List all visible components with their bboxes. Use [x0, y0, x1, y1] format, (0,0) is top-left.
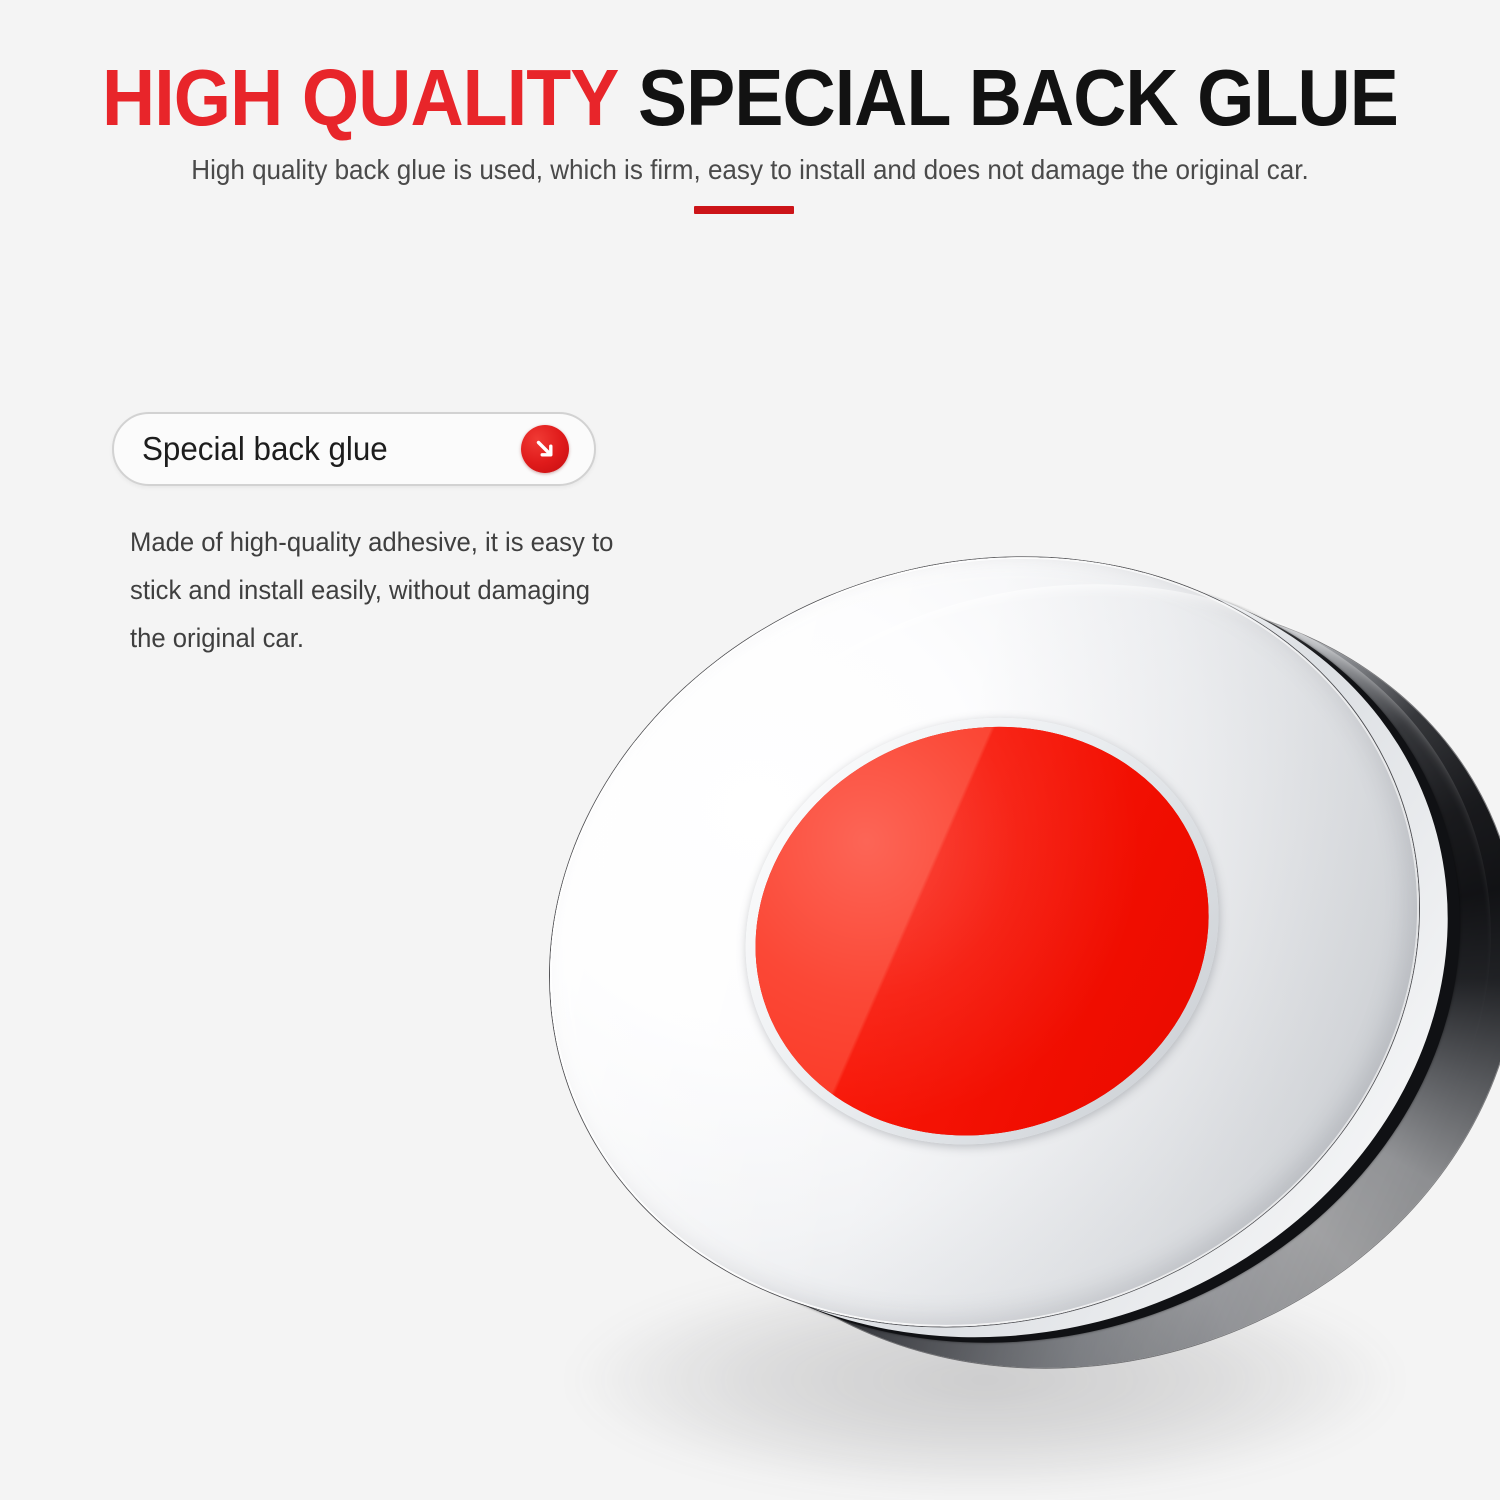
product-image — [505, 385, 1465, 1500]
feature-pill-label: Special back glue — [142, 430, 388, 468]
headline-black-part: SPECIAL BACK GLUE — [638, 53, 1398, 142]
product-disc — [355, 261, 1500, 1500]
header: HIGH QUALITY SPECIAL BACK GLUE High qual… — [0, 0, 1500, 240]
headline-space — [618, 53, 638, 142]
product-feature-page: HIGH QUALITY SPECIAL BACK GLUE High qual… — [0, 0, 1500, 1500]
title-divider — [694, 206, 794, 214]
headline-red-part: HIGH QUALITY — [102, 53, 618, 142]
page-title: HIGH QUALITY SPECIAL BACK GLUE — [60, 54, 1440, 142]
page-subtitle: High quality back glue is used, which is… — [53, 152, 1448, 188]
